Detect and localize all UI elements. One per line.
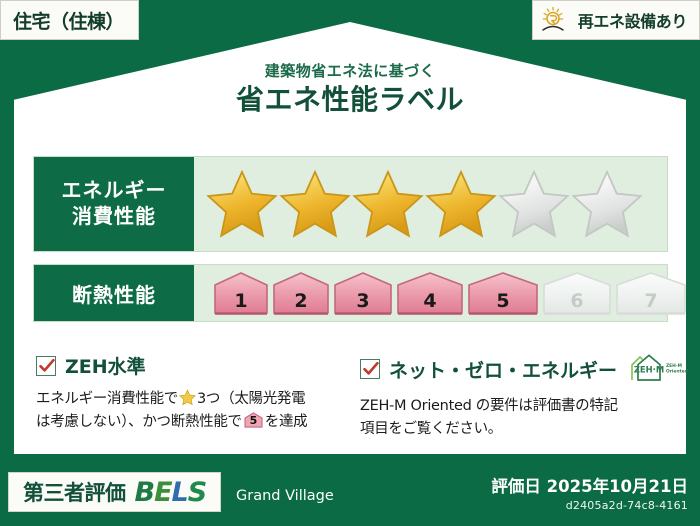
bels-logo-letter: B	[135, 477, 155, 508]
net-zero-energy-section: ネット・ゼロ・エネルギー ZEH·M ZEH-M Oriented ZEH-M …	[360, 352, 680, 442]
insulation-level-badges: 1234567	[206, 271, 687, 315]
bels-logo-letter: E	[154, 477, 171, 508]
title-block: 建築物省エネ法に基づく 省エネ性能ラベル	[0, 62, 700, 117]
svg-text:ZEH·M: ZEH·M	[634, 364, 664, 374]
star-icon-empty	[498, 168, 570, 240]
inline-house-badge-icon: 5	[244, 412, 263, 428]
zeh-m-oriented-logo: ZEH·M ZEH-M Oriented	[626, 352, 690, 386]
page-title: 省エネ性能ラベル	[0, 83, 700, 117]
net-zero-energy-body: ZEH-M Oriented の要件は評価書の特記 項目をご覧ください。	[360, 395, 680, 442]
energy-performance-label: エネルギー 消費性能	[34, 157, 194, 251]
checkmark-icon	[360, 359, 380, 379]
star-icon-filled	[206, 168, 278, 240]
insulation-badge-number: 3	[333, 290, 393, 312]
star-icon-filled	[425, 168, 497, 240]
housing-type-badge: 住宅（住棟）	[0, 0, 139, 40]
insulation-badge-empty: 6	[542, 271, 612, 315]
bels-logo-letter: S	[188, 477, 206, 508]
bels-third-party-badge: 第三者評価 BELS	[8, 472, 221, 512]
inline-house-number: 5	[244, 412, 263, 430]
renewable-equipment-label: 再エネ設備あり	[578, 8, 687, 32]
housing-type-label: 住宅（住棟）	[13, 7, 124, 34]
inline-star-icon	[179, 389, 196, 406]
insulation-badge-filled: 2	[272, 271, 330, 315]
insulation-performance-row: 断熱性能 1234567	[33, 264, 668, 322]
footer-evaluation-info: 評価日 2025年10月21日 d2405a2d-74c8-4161	[491, 473, 688, 512]
star-icon-filled	[352, 168, 424, 240]
insulation-badge-number: 4	[396, 290, 464, 312]
checkmark-icon	[36, 356, 56, 376]
zeh-standard-header: ZEH水準	[36, 352, 356, 379]
insulation-label-text: 断熱性能	[72, 279, 156, 308]
zeh-body-part3: を達成	[265, 414, 308, 430]
insulation-badge-number: 1	[213, 290, 269, 312]
insulation-badge-filled: 4	[396, 271, 464, 315]
third-party-label: 第三者評価	[23, 477, 126, 507]
sun-icon	[541, 6, 571, 34]
star-icon-filled	[279, 168, 351, 240]
insulation-performance-label: 断熱性能	[34, 265, 194, 321]
project-name: Grand Village	[236, 488, 334, 504]
net-zero-body-line1: ZEH-M Oriented の要件は評価書の特記	[360, 398, 618, 414]
bels-logo: BELS	[135, 477, 207, 508]
insulation-badge-number: 6	[542, 290, 612, 312]
insulation-badge-filled: 3	[333, 271, 393, 315]
svg-text:ZEH-M: ZEH-M	[666, 363, 682, 369]
net-zero-body-line2: 項目をご覧ください。	[360, 421, 502, 437]
net-zero-energy-title: ネット・ゼロ・エネルギー	[389, 356, 617, 383]
insulation-badge-empty: 7	[615, 271, 687, 315]
zeh-body-part2: は考慮しない）、かつ断熱性能で	[36, 414, 242, 430]
star-icon-empty	[571, 168, 643, 240]
title-subtitle: 建築物省エネ法に基づく	[0, 62, 700, 80]
energy-label-line2: 消費性能	[72, 204, 156, 230]
zeh-body-stars: 3つ（太陽光発電	[197, 391, 305, 407]
energy-performance-row: エネルギー 消費性能	[33, 156, 668, 252]
insulation-badges-body: 1234567	[194, 265, 687, 321]
svg-text:Oriented: Oriented	[666, 368, 688, 374]
energy-label-root: 住宅（住棟） 再エネ設備あり 建築物省エネ法に基づく	[0, 0, 700, 526]
bels-logo-letter: L	[172, 477, 188, 508]
renewable-equipment-badge: 再エネ設備あり	[532, 0, 700, 40]
zeh-standard-section: ZEH水準 エネルギー消費性能で3つ（太陽光発電 は考慮しない）、かつ断熱性能で…	[36, 352, 356, 435]
insulation-badge-number: 7	[615, 290, 687, 312]
insulation-badge-number: 2	[272, 290, 330, 312]
star-rating-container	[194, 157, 667, 251]
insulation-badge-number: 5	[467, 290, 539, 312]
insulation-badge-filled: 5	[467, 271, 539, 315]
net-zero-energy-header: ネット・ゼロ・エネルギー ZEH·M ZEH-M Oriented	[360, 352, 680, 386]
zeh-standard-title: ZEH水準	[65, 352, 146, 379]
certificate-id: d2405a2d-74c8-4161	[491, 499, 688, 512]
zeh-body-part1: エネルギー消費性能で	[36, 391, 178, 407]
energy-label-line1: エネルギー	[62, 178, 167, 204]
evaluation-date: 評価日 2025年10月21日	[491, 473, 688, 497]
insulation-badge-filled: 1	[213, 271, 269, 315]
zeh-standard-body: エネルギー消費性能で3つ（太陽光発電 は考慮しない）、かつ断熱性能で5を達成	[36, 388, 356, 435]
